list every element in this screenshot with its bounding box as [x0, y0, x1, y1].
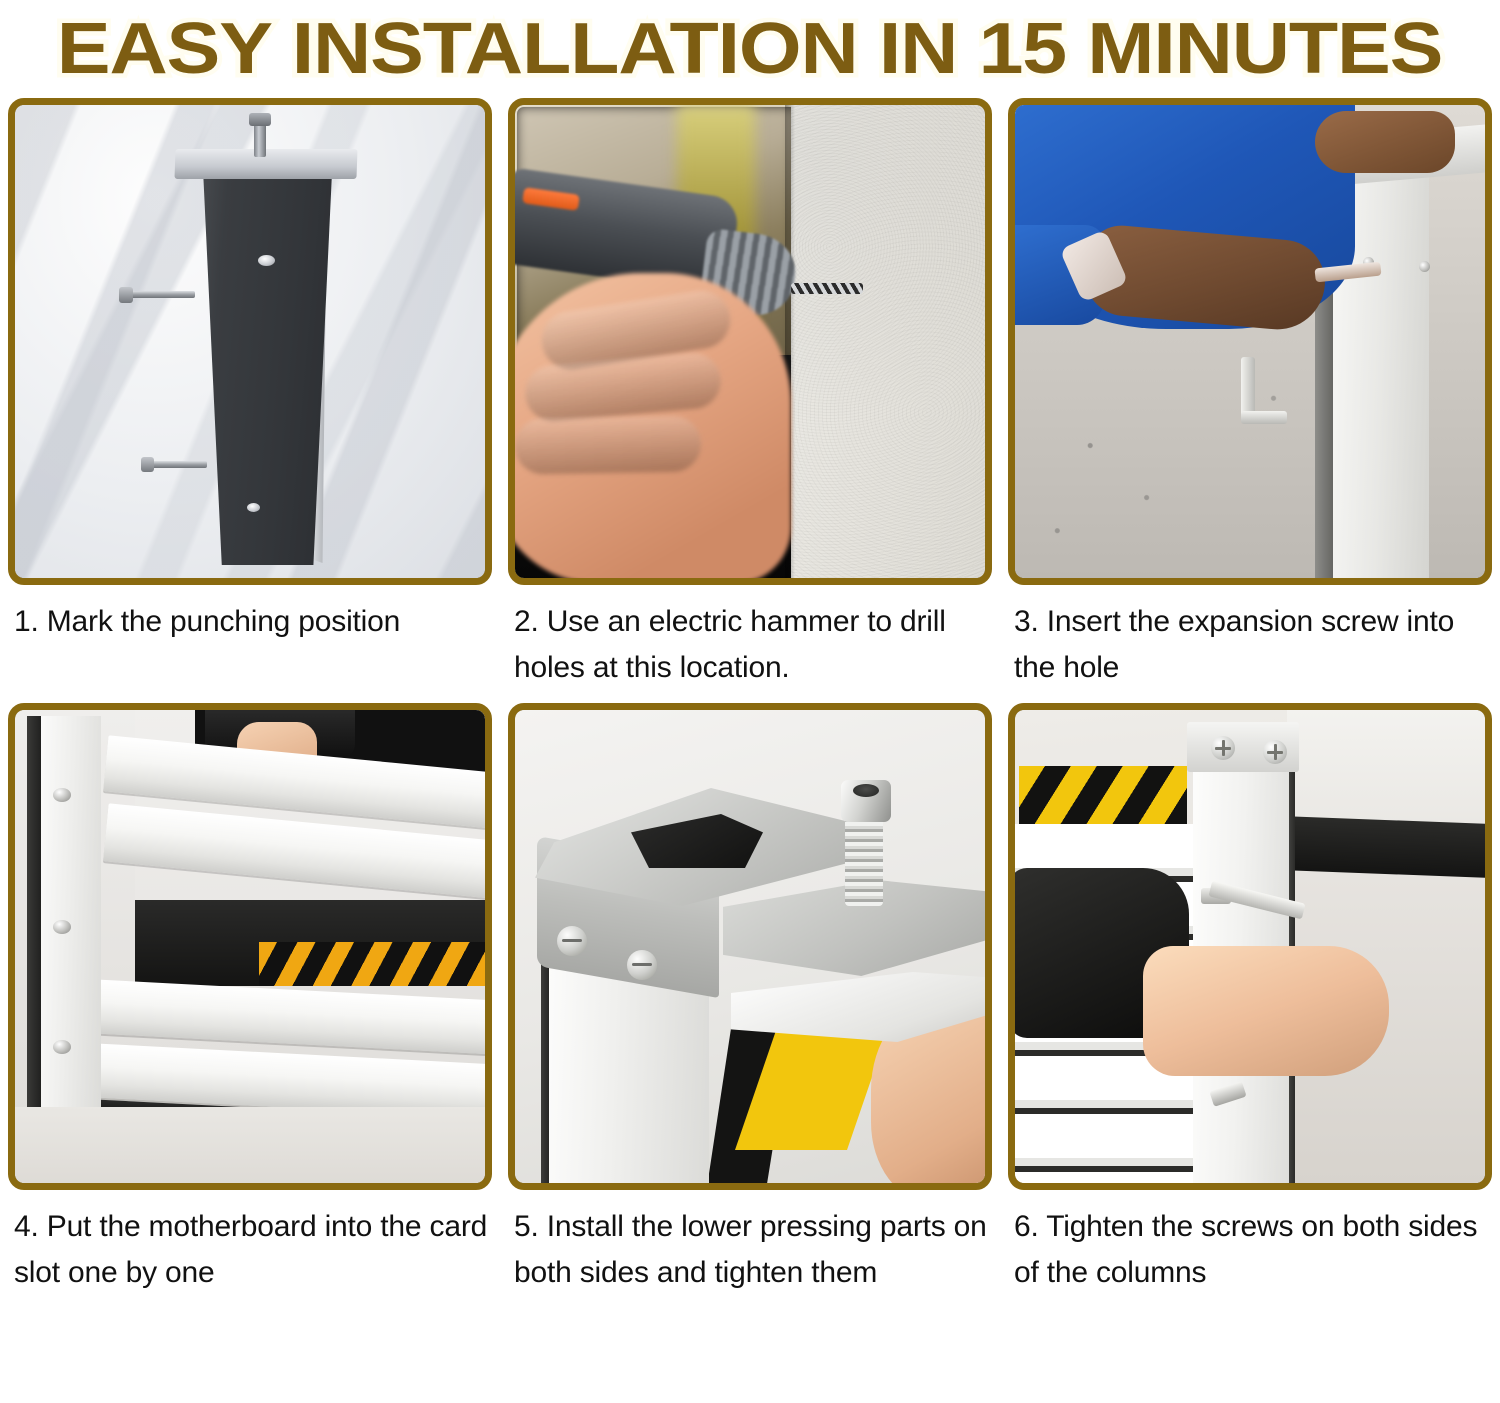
page-title: EASY INSTALLATION IN 15 MINUTES — [50, 13, 1449, 85]
expansion-screw-upper-head — [119, 287, 133, 303]
step-card-6: 6. Tighten the screws on both sides of t… — [1000, 703, 1500, 1340]
column-bolt-2 — [53, 920, 71, 934]
step-photo-5 — [508, 703, 992, 1190]
header-banner: EASY INSTALLATION IN 15 MINUTES — [0, 0, 1500, 98]
column-screw-top-left — [1211, 736, 1235, 760]
step-photo-4 — [8, 703, 492, 1190]
step-card-3: 3. Insert the expansion screw into the h… — [1000, 98, 1500, 703]
step-photo-2-image — [515, 105, 985, 578]
step-photo-3 — [1008, 98, 1492, 585]
top-bolt-head — [249, 113, 271, 126]
step-photo-5-image — [515, 710, 985, 1183]
step-caption-4: 4. Put the motherboard into the card slo… — [8, 1190, 492, 1340]
mounting-hole-lower — [247, 503, 260, 512]
hazard-stripe-tape — [259, 942, 485, 986]
step-card-1: 1. Mark the punching position — [0, 98, 500, 703]
step-photo-1 — [8, 98, 492, 585]
step-card-2: 2. Use an electric hammer to drill holes… — [500, 98, 1000, 703]
step-photo-4-image — [15, 710, 485, 1183]
step-caption-1: 1. Mark the punching position — [8, 585, 492, 703]
installation-steps-grid: 1. Mark the punching position 2. Use an … — [0, 98, 1500, 1340]
column-screw-top-right — [1263, 740, 1287, 764]
expansion-screw-lower — [145, 461, 207, 468]
textured-wall — [791, 105, 985, 578]
step-photo-2 — [508, 98, 992, 585]
drill-bit — [791, 283, 863, 294]
step-caption-6: 6. Tighten the screws on both sides of t… — [1008, 1190, 1492, 1340]
expansion-screw-lower-head — [141, 457, 154, 472]
step-caption-2: 2. Use an electric hammer to drill holes… — [508, 585, 992, 703]
light-floor — [15, 1107, 485, 1183]
step-photo-6 — [1008, 703, 1492, 1190]
bolt-socket-hole — [853, 784, 879, 797]
step-photo-6-image — [1015, 710, 1485, 1183]
step-card-4: 4. Put the motherboard into the card slo… — [0, 703, 500, 1340]
dark-skirting-board — [1287, 816, 1485, 878]
threaded-bolt-shaft — [845, 810, 883, 906]
step-card-5: 5. Install the lower pressing parts on b… — [500, 703, 1000, 1340]
column-top-cap — [174, 149, 357, 179]
finger-3 — [515, 415, 701, 474]
mounting-hole-upper — [258, 255, 275, 266]
step-photo-3-image — [1015, 105, 1485, 578]
installer-hand — [1143, 946, 1389, 1076]
step-photo-1-image — [15, 105, 485, 578]
column-bolt-3 — [53, 1040, 71, 1054]
hazard-stripe-tape — [1019, 766, 1187, 824]
bracket-screw-1 — [557, 926, 587, 956]
expansion-screw-upper — [123, 291, 195, 298]
step-caption-3: 3. Insert the expansion screw into the h… — [1008, 585, 1492, 703]
allen-key-short-arm — [1241, 411, 1287, 424]
column-screw-4 — [1419, 261, 1430, 272]
worker-upper-hand — [1315, 111, 1455, 173]
bracket-screw-2 — [627, 950, 657, 980]
step-caption-5: 5. Install the lower pressing parts on b… — [508, 1190, 992, 1340]
column-bolt-1 — [53, 788, 71, 802]
slot-column — [41, 716, 101, 1136]
